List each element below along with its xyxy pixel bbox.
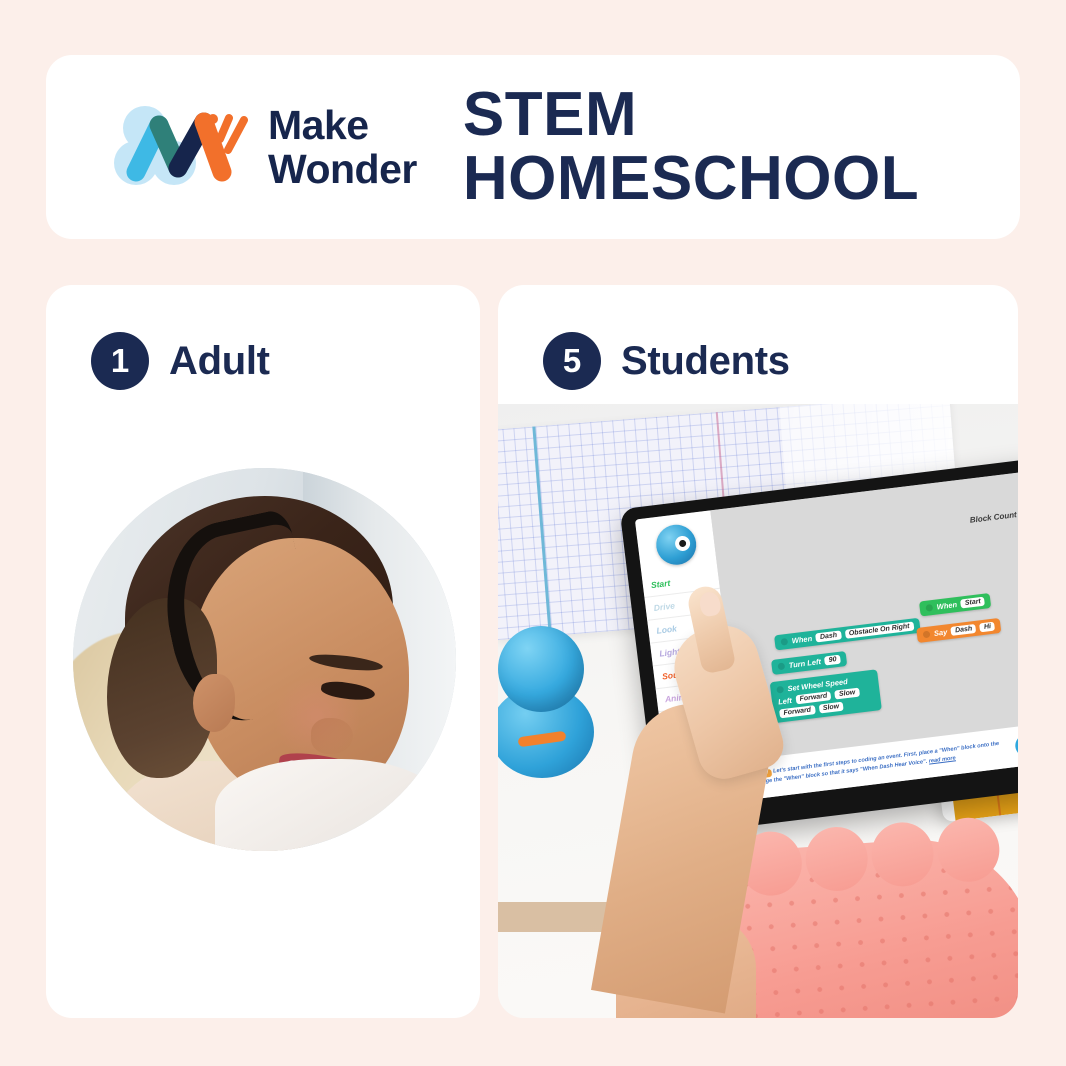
- block-wheel-left-label: Left: [778, 696, 793, 707]
- block-connector-dot: [780, 638, 788, 646]
- portrait-ear: [193, 674, 235, 732]
- block-connector-dot: [776, 686, 784, 694]
- students-count-badge: 5: [543, 332, 601, 390]
- block-field-left-speed[interactable]: Slow: [835, 688, 860, 700]
- dash-robot-toy: [498, 626, 610, 776]
- block-field-say-text[interactable]: Hi: [980, 622, 996, 633]
- block-label: When: [936, 600, 957, 611]
- header-card: Make Wonder STEM HOMESCHOOL: [46, 55, 1020, 239]
- block-count-label: Block Count: [969, 510, 1017, 525]
- block-say-dash-hi[interactable]: Say Dash Hi: [916, 618, 1002, 643]
- make-wonder-logo-icon: [112, 95, 250, 199]
- block-label: Say: [933, 627, 947, 638]
- students-label: Students: [621, 339, 790, 384]
- block-field-right-speed[interactable]: Slow: [818, 702, 843, 714]
- scallop: [804, 825, 870, 893]
- panel-adult-header: 1 Adult: [46, 285, 480, 405]
- students-tablet-photo: ✦✦✦ Start Drive Look: [498, 404, 1018, 1018]
- block-field-obstacle[interactable]: Obstacle On Right: [844, 622, 914, 639]
- block-connector-dot: [925, 604, 933, 612]
- block-field-angle[interactable]: 90: [824, 655, 841, 666]
- brand-name: Make Wonder: [268, 103, 417, 192]
- block-label: When: [791, 634, 812, 645]
- read-more-link[interactable]: read more: [928, 755, 956, 764]
- block-turn-left[interactable]: Turn Left 90: [771, 651, 847, 675]
- page-title: STEM HOMESCHOOL: [463, 83, 919, 211]
- brand-lockup: Make Wonder: [112, 95, 417, 199]
- dash-robot-head: [498, 626, 584, 712]
- block-connector-dot: [777, 662, 785, 670]
- block-field-left-direction[interactable]: Forward: [795, 691, 831, 704]
- block-field-start[interactable]: Start: [960, 597, 985, 609]
- adult-label: Adult: [169, 339, 270, 384]
- block-set-wheel-speed[interactable]: Set Wheel Speed Left Forward Slow Forwar…: [770, 669, 882, 723]
- dash-robot-avatar-icon: [654, 522, 699, 567]
- block-field-right-direction[interactable]: Forward: [779, 705, 815, 718]
- scallop: [935, 816, 1001, 884]
- adult-count-badge: 1: [91, 332, 149, 390]
- block-count: Block Count 2: [969, 507, 1018, 526]
- scallop: [869, 820, 935, 888]
- block-when-start[interactable]: When Start: [919, 593, 992, 617]
- notebook-spine: [532, 426, 551, 636]
- block-field-say-target[interactable]: Dash: [951, 624, 977, 636]
- portrait-nose: [311, 718, 353, 754]
- portrait-shirt: [215, 759, 445, 851]
- poster-root: Make Wonder STEM HOMESCHOOL 1 Adult 5 S: [0, 0, 1066, 1066]
- block-field-dash[interactable]: Dash: [815, 630, 841, 642]
- adult-portrait-photo: [73, 468, 456, 851]
- block-connector-dot: [923, 631, 931, 639]
- panel-students-header: 5 Students: [498, 285, 1018, 405]
- block-when-dash-obstacle[interactable]: When Dash Obstacle On Right: [774, 618, 920, 651]
- block-label: Turn Left: [788, 657, 821, 670]
